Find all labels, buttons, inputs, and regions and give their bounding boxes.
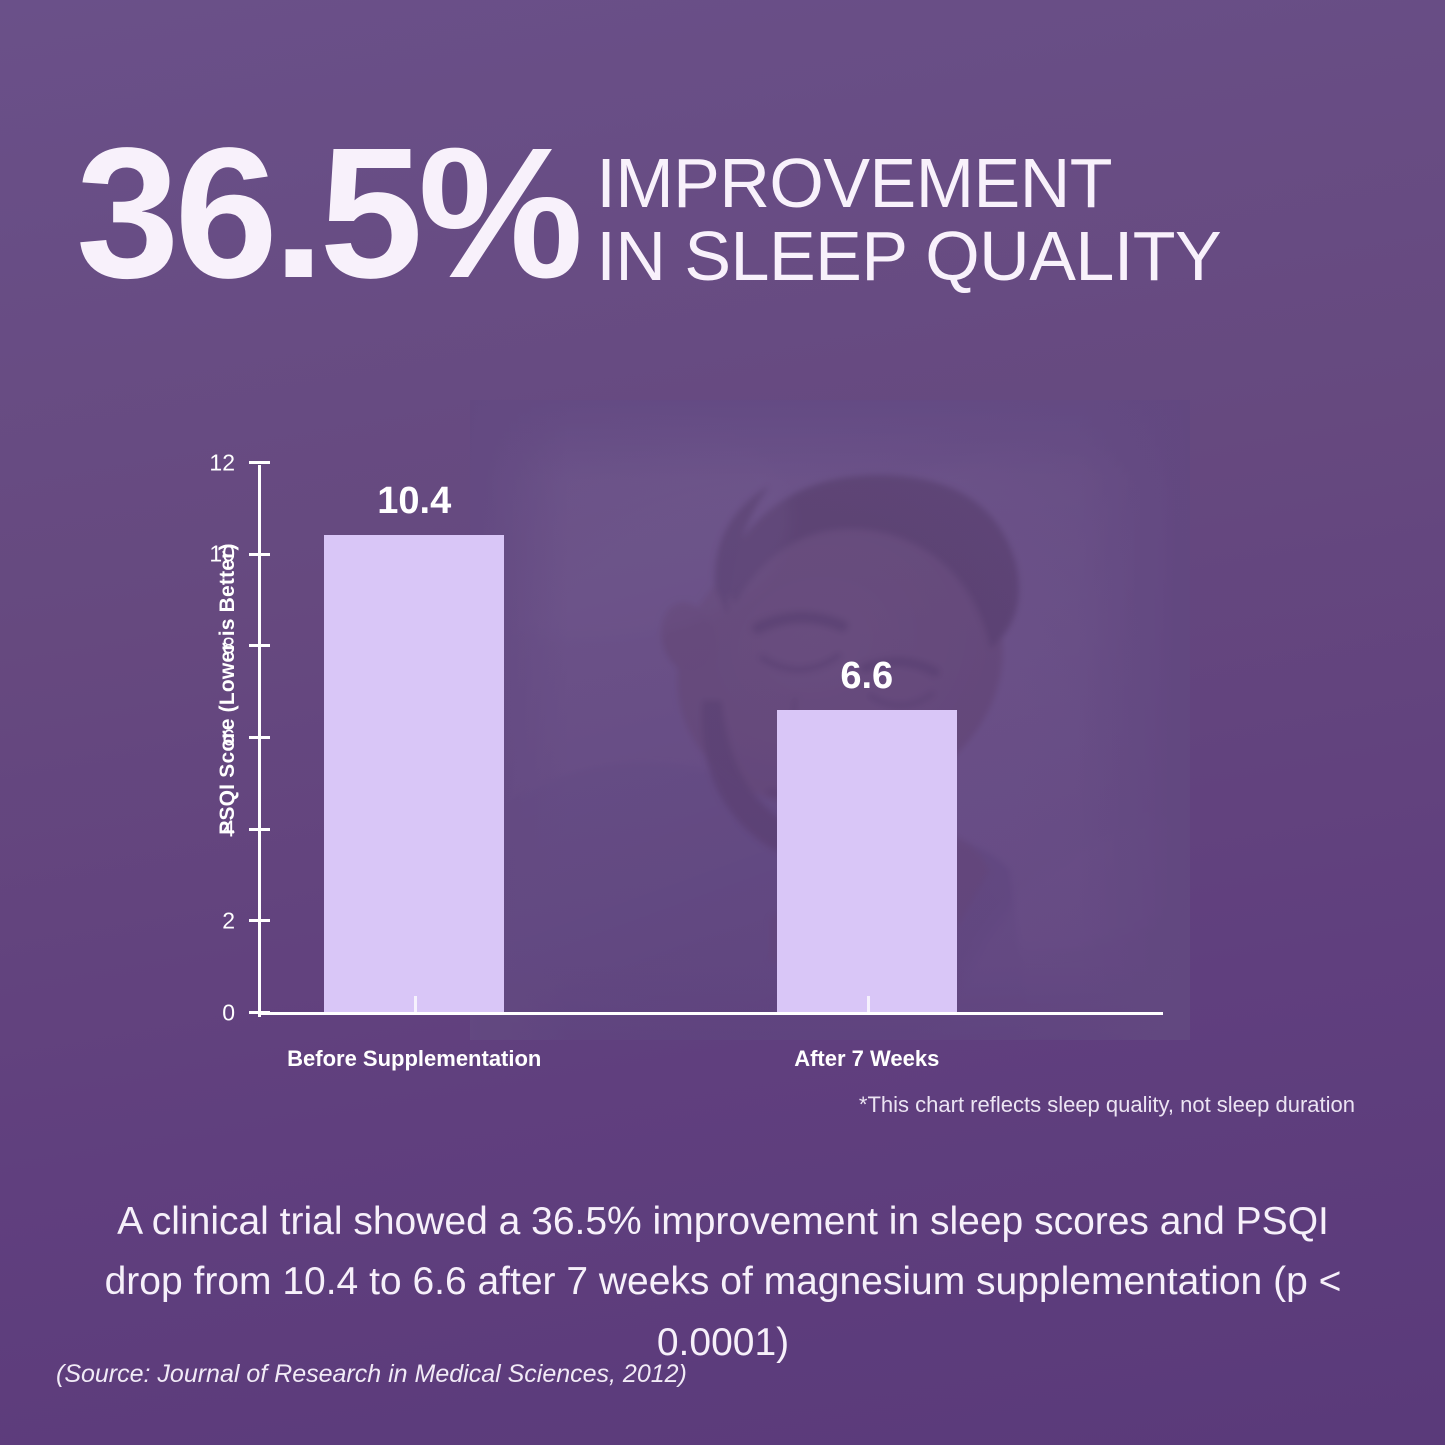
x-tick: [414, 996, 417, 1012]
headline-stat: 36.5%: [76, 133, 578, 295]
headline-line-2: IN SLEEP QUALITY: [596, 217, 1221, 295]
y-axis-title: PSQI Score (Lower is Better): [216, 539, 240, 839]
bar-value-label: 6.6: [840, 655, 893, 698]
y-tick: 8: [249, 644, 270, 647]
y-tick: 12: [249, 461, 270, 464]
chart-footnote: *This chart reflects sleep quality, not …: [859, 1092, 1355, 1118]
y-tick: 4: [249, 828, 270, 831]
y-tick: 6: [249, 736, 270, 739]
x-axis-category-label: Before Supplementation: [287, 1046, 541, 1072]
bar: 6.6After 7 Weeks: [777, 710, 957, 1013]
y-tick: 0: [249, 1011, 270, 1014]
x-tick: [867, 996, 870, 1012]
y-tick: 2: [249, 919, 270, 922]
x-axis-line: [258, 1012, 1163, 1015]
chart-plot-area: 024681012 10.4Before Supplementation6.6A…: [258, 465, 1163, 1015]
y-axis-line: [258, 465, 261, 1017]
y-tick-label: 2: [222, 907, 235, 934]
summary-caption: A clinical trial showed a 36.5% improvem…: [78, 1192, 1368, 1373]
y-tick-label: 12: [209, 449, 235, 476]
headline-subtitle: IMPROVEMENT IN SLEEP QUALITY: [596, 147, 1221, 293]
headline: 36.5% IMPROVEMENT IN SLEEP QUALITY: [76, 133, 1221, 295]
headline-line-1: IMPROVEMENT: [596, 144, 1112, 222]
psqi-bar-chart: PSQI Score (Lower is Better) 024681012 1…: [180, 455, 1190, 1080]
y-tick-label: 8: [222, 632, 235, 659]
y-tick-label: 0: [222, 999, 235, 1026]
x-axis-category-label: After 7 Weeks: [794, 1046, 939, 1072]
y-tick-label: 6: [222, 724, 235, 751]
y-tick: 10: [249, 553, 270, 556]
bar-value-label: 10.4: [377, 480, 451, 523]
y-tick-label: 10: [209, 541, 235, 568]
source-citation: (Source: Journal of Research in Medical …: [56, 1360, 687, 1389]
y-tick-label: 4: [222, 816, 235, 843]
infographic-canvas: 36.5% IMPROVEMENT IN SLEEP QUALITY PSQI …: [0, 0, 1445, 1445]
bar: 10.4Before Supplementation: [324, 535, 504, 1012]
